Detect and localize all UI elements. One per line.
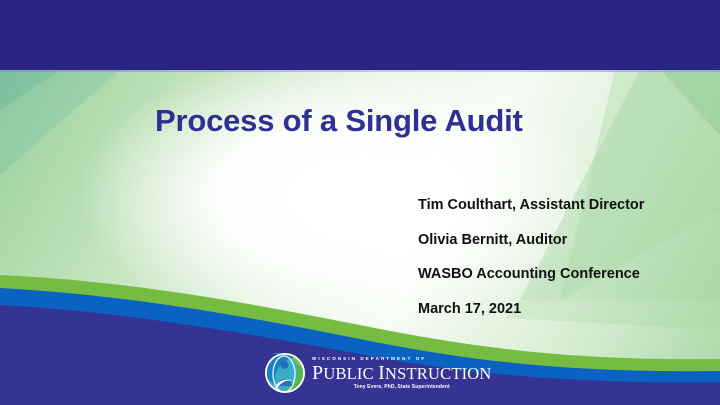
dpi-name-cap-p: P xyxy=(312,362,323,384)
wisconsin-dpi-globe-emblem xyxy=(264,352,306,394)
presenter-block: Tim Coulthart, Assistant Director Olivia… xyxy=(418,198,708,316)
dpi-logo: WISCONSIN DEPARTMENT OF PUBLIC INSTRUCTI… xyxy=(264,351,460,395)
dpi-logo-text: WISCONSIN DEPARTMENT OF PUBLIC INSTRUCTI… xyxy=(312,356,492,390)
presentation-slide: Process of a Single Audit Tim Coulthart,… xyxy=(0,0,720,405)
presenter-line-1: Tim Coulthart, Assistant Director xyxy=(418,198,708,213)
dpi-department-line: WISCONSIN DEPARTMENT OF xyxy=(312,357,492,362)
event-line: WASBO Accounting Conference xyxy=(418,267,708,282)
date-line: March 17, 2021 xyxy=(418,302,708,317)
dpi-superintendent-line: Tony Evers, PhD, State Superintendent xyxy=(312,385,492,390)
presenter-line-2: Olivia Bernitt, Auditor xyxy=(418,233,708,248)
dpi-name-instruction: NSTRUCTION xyxy=(385,364,492,383)
dpi-name-cap-i: I xyxy=(378,362,385,384)
dpi-name-public: UBLIC xyxy=(323,364,378,383)
page-title: Process of a Single Audit xyxy=(155,103,675,139)
top-banner xyxy=(0,0,720,70)
banner-edge-line xyxy=(0,70,720,72)
dpi-name-line: PUBLIC INSTRUCTION xyxy=(312,363,492,383)
